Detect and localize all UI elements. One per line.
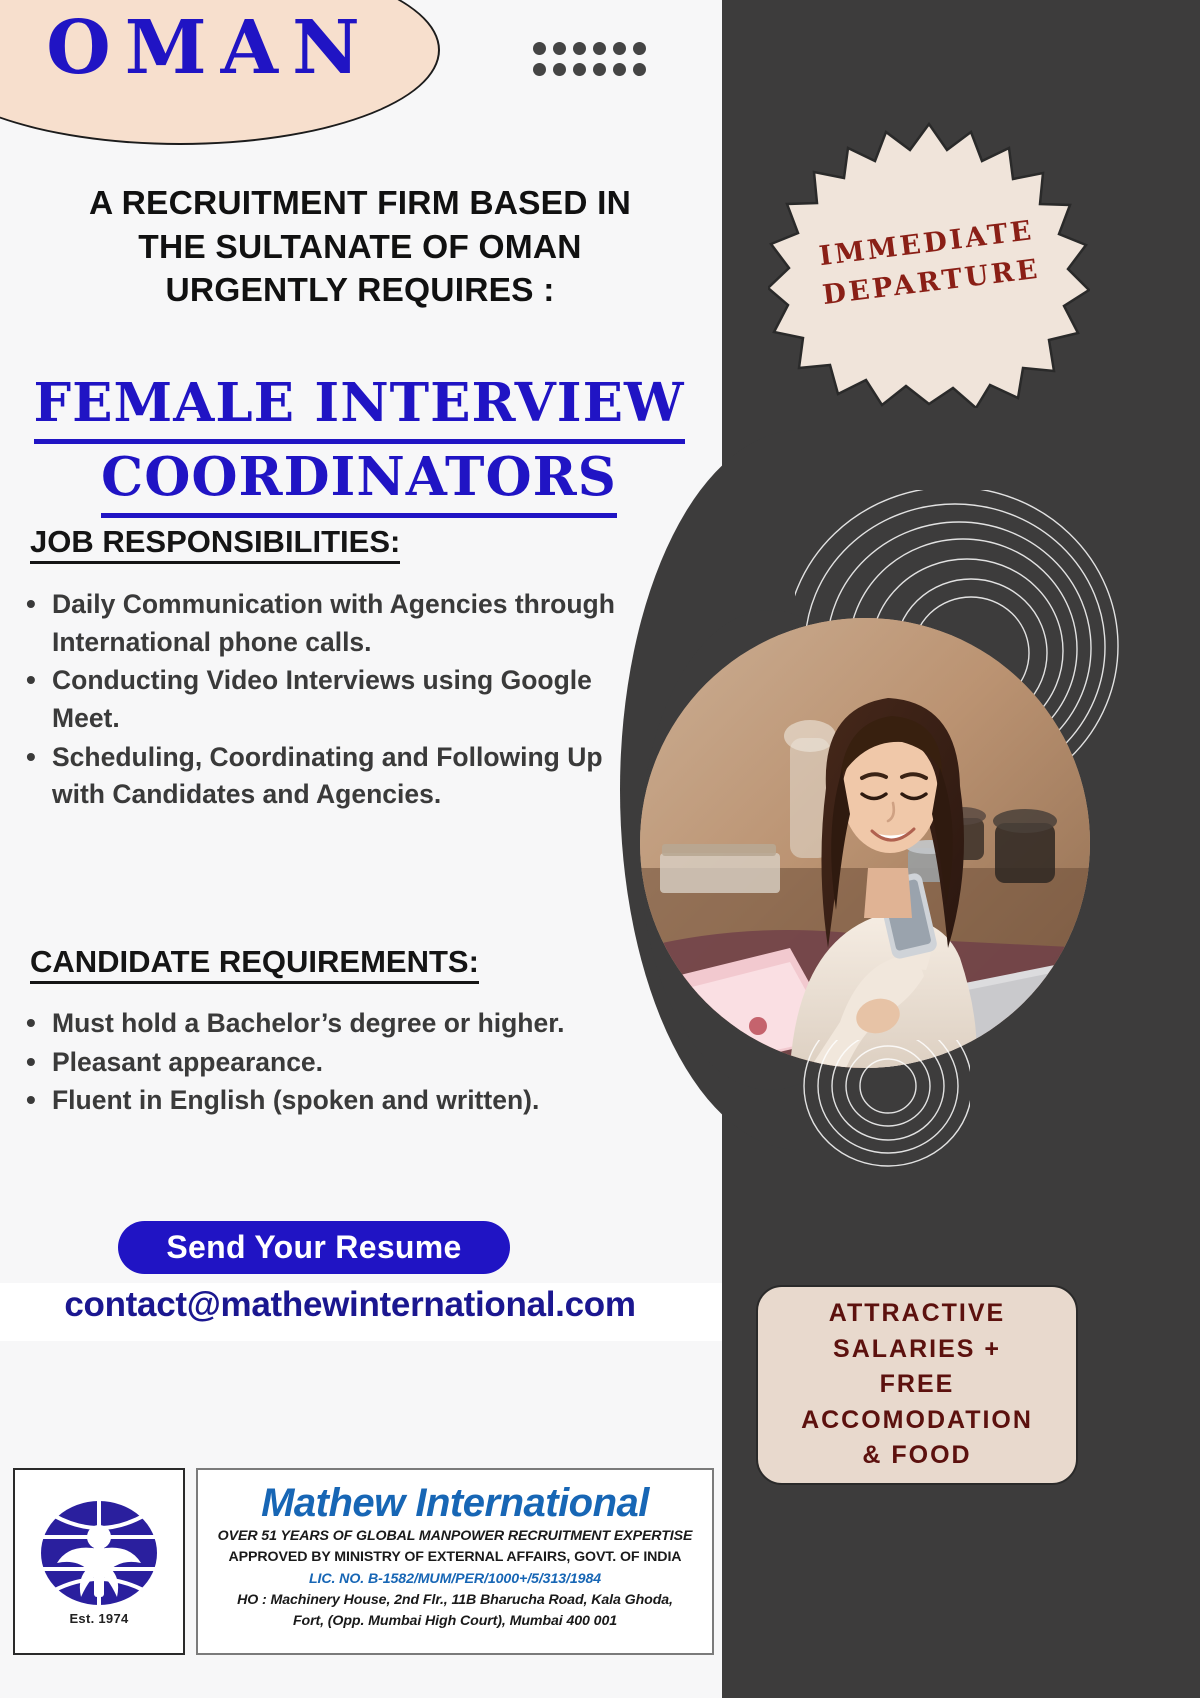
send-resume-button[interactable]: Send Your Resume [118, 1221, 510, 1274]
list-item: Fluent in English (spoken and written). [22, 1082, 652, 1120]
list-item: Daily Communication with Agencies throug… [22, 586, 652, 661]
list-item: Scheduling, Coordinating and Following U… [22, 739, 652, 814]
company-logo-box: Est. 1974 [13, 1468, 185, 1655]
benefit-line-2: SALARIES + [801, 1332, 1033, 1368]
company-name: Mathew International [204, 1480, 706, 1526]
job-title-line-1: FEMALE INTERVIEW [34, 370, 685, 444]
responsibilities-heading: JOB RESPONSIBILITIES: [30, 524, 400, 564]
page-title: FEMALE INTERVIEW COORDINATORS [14, 370, 704, 518]
company-tagline: OVER 51 YEARS OF GLOBAL MANPOWER RECRUIT… [204, 1526, 706, 1547]
responsibilities-list: Daily Communication with Agencies throug… [22, 586, 652, 815]
company-license: LIC. NO. B-1582/MUM/PER/1000+/5/313/1984 [204, 1569, 706, 1590]
benefits-badge: ATTRACTIVE SALARIES + FREE ACCOMODATION … [756, 1285, 1078, 1485]
dot-grid-icon [533, 38, 653, 80]
list-item: Conducting Video Interviews using Google… [22, 662, 652, 737]
sub-headline: A RECRUITMENT FIRM BASED IN THE SULTANAT… [40, 182, 680, 313]
poster-root: OMAN A RECRUITMENT FIRM BASED IN THE SUL… [0, 0, 1200, 1698]
sub-headline-line-1: A RECRUITMENT FIRM BASED IN [40, 182, 680, 226]
globe-person-logo-icon [35, 1497, 163, 1609]
sub-headline-line-2: THE SULTANATE OF OMAN [40, 226, 680, 270]
company-info-box: Mathew International OVER 51 YEARS OF GL… [196, 1468, 714, 1655]
contact-email[interactable]: contact@mathewinternational.com [0, 1285, 700, 1325]
woman-using-phone-and-laptop-photo [640, 618, 1090, 1068]
company-approval: APPROVED BY MINISTRY OF EXTERNAL AFFAIRS… [204, 1547, 706, 1568]
benefit-line-1: ATTRACTIVE [801, 1296, 1033, 1332]
company-address-line-1: HO : Machinery House, 2nd Flr., 11B Bhar… [204, 1590, 706, 1611]
list-item: Must hold a Bachelor’s degree or higher. [22, 1005, 652, 1043]
requirements-heading: CANDIDATE REQUIREMENTS: [30, 944, 479, 984]
country-badge-label: OMAN [0, 5, 374, 95]
sub-headline-line-3: URGENTLY REQUIRES : [40, 269, 680, 313]
requirements-list: Must hold a Bachelor’s degree or higher.… [22, 1005, 652, 1121]
benefit-line-5: & FOOD [801, 1438, 1033, 1474]
benefit-line-3: FREE [801, 1367, 1033, 1403]
company-address-line-2: Fort, (Opp. Mumbai High Court), Mumbai 4… [204, 1611, 706, 1632]
immediate-departure-badge: IMMEDIATE DEPARTURE [752, 99, 1107, 426]
job-title-line-2: COORDINATORS [101, 444, 617, 518]
established-label: Est. 1974 [69, 1611, 128, 1626]
list-item: Pleasant appearance. [22, 1044, 652, 1082]
avatar [640, 618, 1090, 1068]
benefit-line-4: ACCOMODATION [801, 1403, 1033, 1439]
concentric-rings-decoration-lower-icon [800, 1040, 970, 1170]
